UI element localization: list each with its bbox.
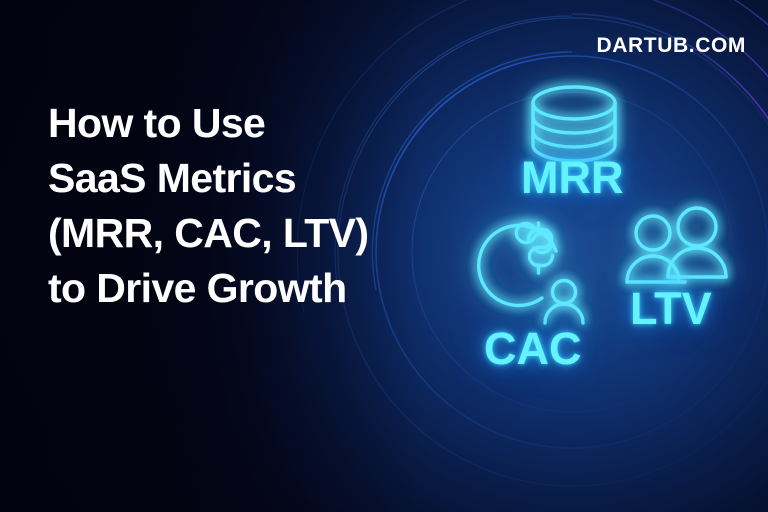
brand-watermark: DARTUB.COM (597, 34, 746, 58)
metric-label-ltv: LTV (630, 283, 712, 335)
title-line-2: SaaS Metrics (48, 151, 440, 206)
thumbnail-canvas: DARTUB.COM How to Use SaaS Metrics (MRR,… (0, 0, 768, 512)
metric-label-mrr: MRR (521, 152, 623, 204)
title-line-4: to Drive Growth (48, 261, 440, 316)
metric-label-cac: CAC (484, 323, 582, 375)
page-title: How to Use SaaS Metrics (MRR, CAC, LTV) … (48, 96, 440, 316)
title-line-3: (MRR, CAC, LTV) (48, 206, 440, 261)
title-line-1: How to Use (48, 96, 440, 151)
